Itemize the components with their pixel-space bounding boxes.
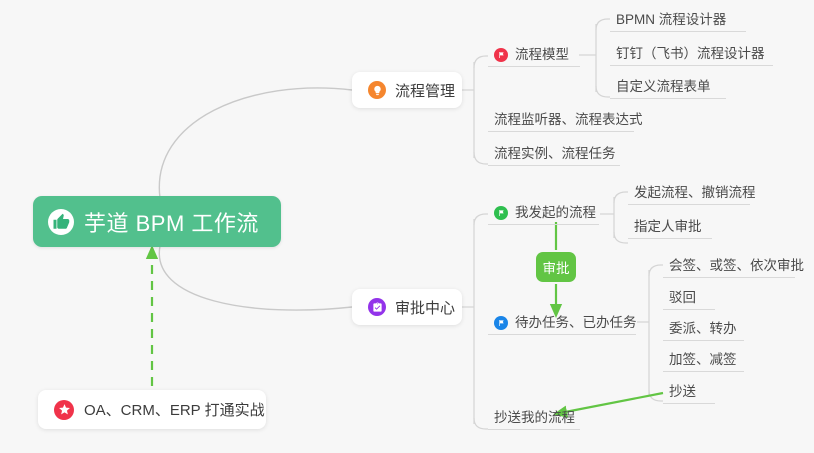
node-listener-expression-label: 流程监听器、流程表达式: [494, 111, 643, 128]
node-add-remove-sign[interactable]: 加签、减签: [663, 348, 744, 372]
node-dingtalk-feishu-designer-label: 钉钉（飞书）流程设计器: [616, 45, 765, 62]
bracket-my-initiated-corner-top: [614, 192, 628, 203]
node-bpmn-designer-label: BPMN 流程设计器: [616, 11, 726, 28]
node-countersign[interactable]: 会签、或签、依次审批: [663, 254, 795, 278]
node-custom-process-form[interactable]: 自定义流程表单: [610, 75, 726, 99]
node-dingtalk-feishu-designer[interactable]: 钉钉（飞书）流程设计器: [610, 42, 773, 66]
star-icon: [54, 400, 74, 420]
bracket-shenpi-zhongxin-corner-bottom: [474, 418, 488, 429]
node-add-remove-sign-label: 加签、减签: [669, 351, 737, 368]
node-todo-done-tasks[interactable]: 待办任务、已办任务: [488, 311, 636, 335]
node-delegate-transfer-label: 委派、转办: [669, 320, 737, 337]
node-cc[interactable]: 抄送: [663, 380, 715, 404]
node-oa-crm-erp[interactable]: OA、CRM、ERP 打通实战: [38, 390, 266, 429]
node-listener-expression[interactable]: 流程监听器、流程表达式: [488, 108, 634, 132]
node-assignee-approval[interactable]: 指定人审批: [628, 215, 712, 239]
bracket-liucheng-moxing-corner-bottom: [596, 86, 610, 97]
connector-root-to-liucheng-guanli: [159, 88, 352, 198]
node-oa-crm-erp-label: OA、CRM、ERP 打通实战: [84, 399, 265, 420]
node-cc-label: 抄送: [669, 383, 696, 400]
node-start-cancel-process-label: 发起流程、撤销流程: [634, 184, 756, 201]
bracket-liucheng-guanli-corner-top: [474, 56, 488, 68]
root-label: 芋道 BPM 工作流: [84, 206, 259, 238]
lightbulb-icon: [368, 81, 386, 99]
root-node[interactable]: 芋道 BPM 工作流: [33, 196, 281, 247]
bracket-shenpi-zhongxin: [462, 219, 474, 424]
node-cc-to-me[interactable]: 抄送我的流程: [488, 406, 580, 430]
approval-chip[interactable]: 审批: [536, 252, 576, 282]
node-instance-task[interactable]: 流程实例、流程任务: [488, 142, 620, 166]
bracket-my-initiated-corner-bottom: [614, 232, 628, 243]
node-reject[interactable]: 驳回: [663, 286, 715, 310]
node-assignee-approval-label: 指定人审批: [634, 218, 702, 235]
node-liucheng-guanli[interactable]: 流程管理: [352, 72, 462, 108]
node-liucheng-moxing-label: 流程模型: [515, 46, 569, 63]
node-instance-task-label: 流程实例、流程任务: [494, 145, 616, 162]
node-custom-process-form-label: 自定义流程表单: [616, 78, 711, 95]
bracket-todo-done-tasks-corner-bottom: [649, 390, 663, 401]
node-my-initiated-label: 我发起的流程: [515, 204, 596, 221]
node-delegate-transfer[interactable]: 委派、转办: [663, 317, 744, 341]
node-todo-done-tasks-label: 待办任务、已办任务: [515, 314, 637, 331]
bracket-liucheng-moxing: [579, 24, 596, 92]
node-reject-label: 驳回: [669, 289, 696, 306]
approval-chip-label: 审批: [543, 257, 570, 277]
node-cc-to-me-label: 抄送我的流程: [494, 409, 575, 426]
flag-icon: [494, 206, 508, 220]
node-countersign-label: 会签、或签、依次审批: [669, 257, 804, 274]
bracket-liucheng-guanli: [462, 62, 474, 158]
node-shenpi-zhongxin-label: 审批中心: [395, 297, 455, 318]
connector-root-to-shenpi-zhongxin: [159, 246, 352, 310]
bracket-liucheng-moxing-corner-top: [596, 19, 610, 30]
bracket-todo-done-tasks: [637, 270, 649, 396]
node-shenpi-zhongxin[interactable]: 审批中心: [352, 289, 462, 325]
bracket-liucheng-guanli-corner-bottom: [474, 152, 488, 164]
clipboard-icon: [368, 298, 386, 316]
thumbs-up-icon: [48, 209, 74, 235]
bracket-my-initiated: [600, 197, 614, 238]
node-start-cancel-process[interactable]: 发起流程、撤销流程: [628, 181, 750, 205]
flag-icon: [494, 48, 508, 62]
node-my-initiated[interactable]: 我发起的流程: [488, 201, 599, 225]
flag-icon: [494, 316, 508, 330]
bracket-shenpi-zhongxin-corner-top: [474, 214, 488, 225]
node-liucheng-guanli-label: 流程管理: [395, 80, 455, 101]
bracket-todo-done-tasks-corner-top: [649, 265, 663, 276]
mindmap-canvas: 芋道 BPM 工作流 流程管理 流程模型 BPMN 流程设计器 钉钉（飞书）流程…: [0, 0, 814, 453]
node-bpmn-designer[interactable]: BPMN 流程设计器: [610, 8, 746, 32]
node-liucheng-moxing[interactable]: 流程模型: [488, 43, 580, 67]
